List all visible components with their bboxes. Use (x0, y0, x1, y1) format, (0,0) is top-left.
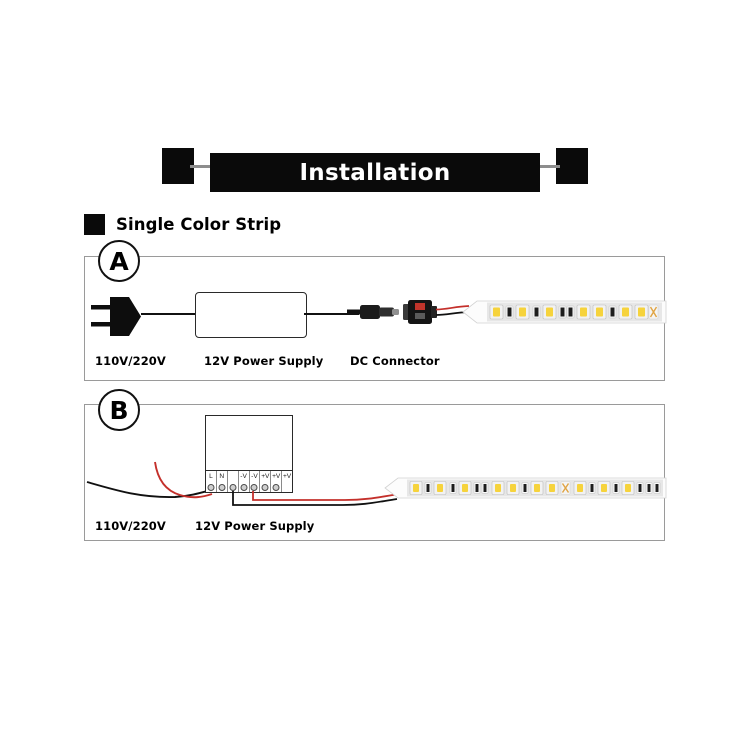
ac-wire-segment (141, 313, 197, 316)
title-bar: Installation (210, 153, 540, 192)
square-bullet-icon (84, 214, 105, 235)
dc-barrel-plug-icon (347, 301, 399, 323)
page-title: Installation (299, 160, 450, 186)
panel-badge-a: A (98, 240, 140, 282)
strip-cut-marker (649, 305, 658, 319)
dc-socket-connector-icon (403, 297, 471, 327)
strip-cut-marker (561, 482, 570, 495)
terminal-screw-icon (207, 484, 214, 491)
subtitle-label: Single Color Strip (116, 215, 281, 234)
caption-power-supply: 12V Power Supply (195, 519, 314, 533)
led-strip (385, 473, 666, 503)
subtitle-row: Single Color Strip (84, 214, 281, 235)
caption-input-voltage: 110V/220V (95, 519, 166, 533)
banner-end-cap-right (556, 148, 588, 184)
ac-plug-icon (91, 294, 151, 342)
caption-input-voltage: 110V/220V (95, 354, 166, 368)
panel-b: B L N -V -V (84, 404, 665, 541)
led-strip (463, 295, 666, 329)
terminal-L: L (206, 471, 217, 492)
ac-input-wires (85, 460, 220, 505)
caption-power-supply: 12V Power Supply (204, 354, 323, 368)
power-supply-box: L N -V -V +V (205, 415, 293, 493)
title-banner: Installation (162, 148, 588, 192)
panel-a: A (84, 256, 665, 381)
panel-badge-b: B (98, 389, 140, 431)
power-supply-brick (195, 292, 307, 338)
caption-dc-connector: DC Connector (350, 354, 440, 368)
